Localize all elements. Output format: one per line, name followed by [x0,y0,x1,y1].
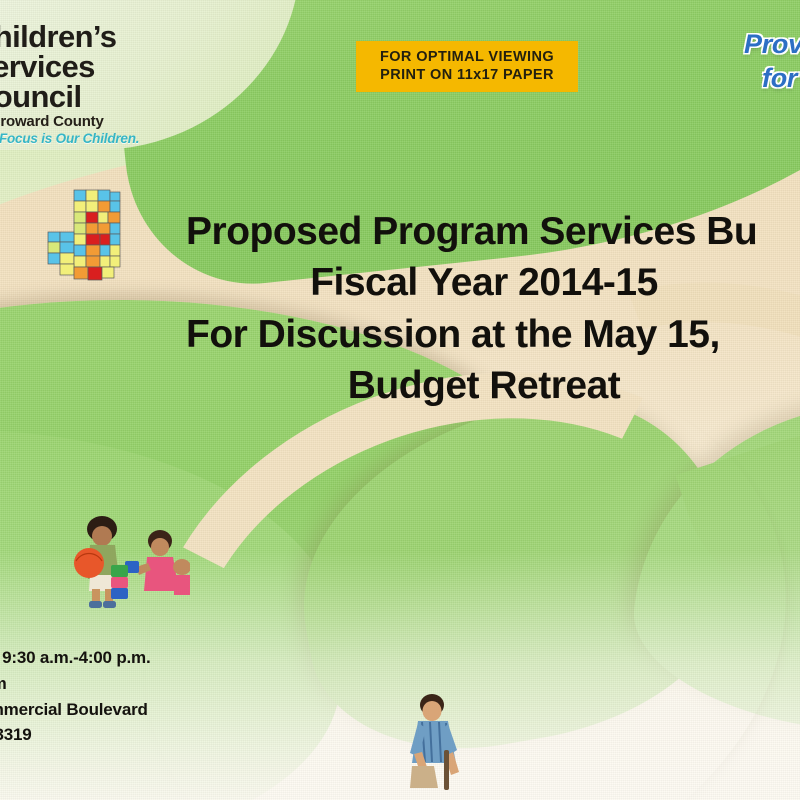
event-website: ard.org [0,748,318,774]
print-notice-line-1: FOR OPTIMAL VIEWING [362,48,572,66]
event-datetime-text: , 2014, 9:30 a.m.-4:00 p.m. [0,648,150,667]
blue-headline-line-1: Prov [744,28,800,62]
logo-line-1: Children’s [0,22,202,52]
logo-line-2: Services [0,52,202,82]
print-notice-badge: FOR OPTIMAL VIEWING PRINT ON 11x17 PAPER [356,41,578,92]
title-line-4: Budget Retreat [186,360,782,411]
logo-subtitle: of Broward County [0,113,202,130]
csc-logo: Children’s Services Council of Broward C… [0,22,202,146]
photo-man-on-path [398,692,474,796]
event-room: rd Room [0,671,318,697]
blue-headline-line-2: for [762,62,800,96]
toddlers-illustration [64,503,190,613]
event-street: est Commercial Boulevard [0,697,318,723]
blue-headline: Prov for [744,28,800,96]
title-line-3: For Discussion at the May 15, [186,309,800,360]
man-illustration [398,692,474,796]
event-datetime: th, 2014, 9:30 a.m.-4:00 p.m. [0,645,318,671]
logo-line-3: Council [0,82,202,112]
slide-title: Proposed Program Services Bu Fiscal Year… [186,206,800,412]
title-line-2: Fiscal Year 2014-15 [186,257,782,308]
broward-county-map [44,176,160,284]
event-citystatezip: ill, FL 33319 [0,722,318,748]
title-line-1: Proposed Program Services Bu [186,206,800,257]
photo-toddlers-playing [64,503,190,613]
map-icon [44,176,160,284]
logo-tagline: Our Focus is Our Children. [0,131,202,146]
print-notice-line-2: PRINT ON 11x17 PAPER [362,66,572,84]
event-details: th, 2014, 9:30 a.m.-4:00 p.m. rd Room es… [0,645,318,774]
presentation-slide: Children’s Services Council of Broward C… [0,0,800,800]
